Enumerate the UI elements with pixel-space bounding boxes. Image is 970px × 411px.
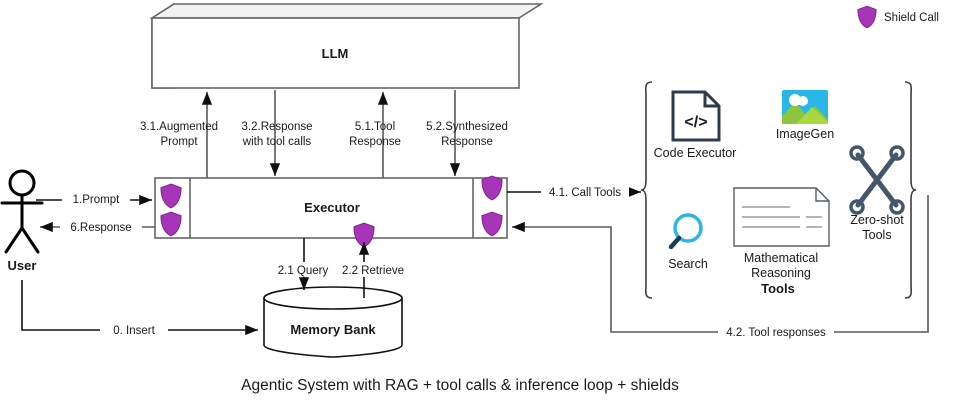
flow-query: 2.1 Query [272,238,334,290]
flow-query-label: 2.1 Query [278,265,329,277]
formula-page-icon [734,188,829,246]
tool-zero-shot-label-1: Zero-shot [850,213,904,227]
node-memory-bank[interactable]: Memory Bank [264,287,402,357]
flow-tool-responses-label: 4.2. Tool responses [726,327,826,339]
legend-shield-call: Shield Call [858,6,939,28]
tool-math-reasoning-label-1: Mathematical [744,251,818,265]
flow-tool-response-to-llm: 5.1.Tool Response [349,92,401,178]
diagram-caption: Agentic System with RAG + tool calls & i… [241,377,679,394]
tool-code-executor-label: Code Executor [654,146,737,160]
flow-synthesized-response-label-2: Response [441,136,493,148]
flow-prompt: 1.Prompt [36,190,152,206]
flow-call-tools: 4.1. Call Tools [507,183,641,199]
flow-call-tools-label: 4.1. Call Tools [549,187,621,199]
tool-imagegen-label: ImageGen [776,127,834,141]
crossed-wrenches-icon [851,147,903,213]
tool-zero-shot[interactable]: Zero-shot Tools [850,147,904,242]
flow-insert-label: 0. Insert [113,325,155,337]
code-document-icon: </> [673,92,719,140]
tool-code-executor[interactable]: </> Code Executor [654,92,737,160]
tool-math-reasoning[interactable]: Mathematical Reasoning [734,188,829,280]
node-executor[interactable]: Executor [155,178,507,238]
tool-search[interactable]: Search [668,215,708,271]
flow-response-tool-calls-label-2: with tool calls [242,136,312,148]
flow-response-tool-calls-label-1: 3.2.Response [242,121,313,133]
magnifier-icon [671,215,701,247]
tools-group-label: Tools [761,281,795,296]
flow-augmented-prompt-label-1: 3.1.Augmented [140,121,218,133]
tool-zero-shot-label-2: Tools [862,228,891,242]
flow-tool-response-label-1: 5.1.Tool [355,121,395,133]
node-llm[interactable]: LLM [152,4,541,88]
tool-search-label: Search [668,257,708,271]
flow-synthesized-response-label-1: 5.2.Synthesized [426,121,508,133]
flow-response-label: 6.Response [70,222,131,234]
flow-synthesized-response: 5.2.Synthesized Response [426,90,508,176]
image-picture-icon [782,90,828,124]
tool-imagegen[interactable]: ImageGen [776,90,834,141]
flow-augmented-prompt: 3.1.Augmented Prompt [140,92,218,178]
flow-retrieve-label: 2.2 Retrieve [342,265,404,277]
flow-response: 6.Response [40,218,155,234]
memory-bank-label: Memory Bank [290,322,376,337]
executor-label: Executor [304,200,360,215]
user-label: User [8,258,37,273]
flow-insert: 0. Insert [22,280,258,337]
flow-augmented-prompt-label-2: Prompt [160,136,198,148]
diagram-canvas: LLM Executor User Memory Bank 3.1.Augmen… [0,0,970,411]
tool-math-reasoning-label-2: Reasoning [751,266,811,280]
flow-tool-response-label-2: Response [349,136,401,148]
flow-prompt-label: 1.Prompt [73,194,120,206]
architecture-diagram: LLM Executor User Memory Bank 3.1.Augmen… [0,0,970,411]
flow-response-with-tool-calls: 3.2.Response with tool calls [242,90,313,176]
legend-label: Shield Call [884,12,939,24]
llm-label: LLM [322,46,349,61]
svg-text:</>: </> [684,114,707,131]
shield-icon-legend [858,6,876,28]
node-user[interactable]: User [2,171,42,273]
